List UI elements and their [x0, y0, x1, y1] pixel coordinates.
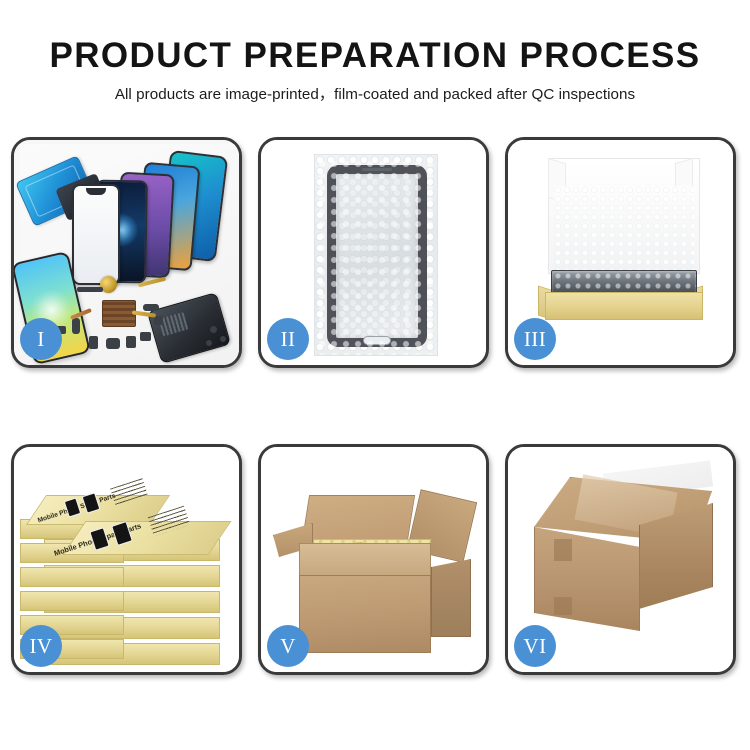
wrapped-screen	[327, 165, 427, 347]
header: PRODUCT PREPARATION PROCESS All products…	[0, 34, 750, 105]
step-badge-4: IV	[20, 625, 62, 667]
phone-screen-white	[72, 184, 120, 285]
carton-front-panel	[299, 575, 431, 653]
step-card-3[interactable]: III	[505, 137, 736, 368]
screw-part-1	[210, 326, 217, 333]
step-card-5[interactable]: V	[258, 444, 489, 675]
step-badge-3: III	[514, 318, 556, 360]
kraft-box-base	[545, 292, 703, 320]
connector-part-6	[140, 332, 151, 341]
step-badge-2: II	[267, 318, 309, 360]
earpiece-slot-icon	[362, 168, 392, 171]
stack-box-l4	[20, 591, 124, 611]
stack-box-l3	[20, 567, 124, 587]
step-card-2[interactable]: II	[258, 137, 489, 368]
step-card-4[interactable]: Mobile Phone Spare Parts Mobile Phone Sp…	[11, 444, 242, 675]
connector-part-7	[72, 318, 80, 334]
page-title: PRODUCT PREPARATION PROCESS	[0, 34, 750, 78]
connector-part-2	[143, 304, 159, 311]
sealed-carton-side	[639, 503, 713, 631]
screw-part-3	[206, 340, 212, 346]
connector-part-5	[126, 336, 136, 348]
step-badge-1: I	[20, 318, 62, 360]
wrapped-screen-in-box	[551, 270, 697, 294]
carton-inner-wall	[299, 543, 431, 577]
carton-side-panel	[431, 559, 471, 637]
connector-part-4	[106, 338, 120, 349]
home-button-icon	[363, 336, 391, 345]
bubble-wrap-sheet	[314, 154, 438, 356]
process-steps-grid: I II	[11, 137, 739, 675]
sealed-carton-front	[534, 525, 640, 631]
product-preparation-infographic: PRODUCT PREPARATION PROCESS All products…	[0, 0, 750, 750]
step-card-6[interactable]: VI	[505, 444, 736, 675]
screw-part-2	[220, 336, 226, 342]
foam-padding	[554, 186, 694, 272]
carton-tape-patch-top	[554, 539, 572, 561]
connector-part-1	[77, 287, 103, 292]
connector-part-3	[89, 336, 98, 349]
page-subtitle: All products are image-printed，film-coat…	[0, 84, 750, 105]
chip-array-part	[102, 300, 136, 327]
carton-tape-patch-bottom	[554, 597, 572, 615]
step-badge-5: V	[267, 625, 309, 667]
step-card-1[interactable]: I	[11, 137, 242, 368]
step-badge-6: VI	[514, 625, 556, 667]
connector-part-8	[154, 316, 163, 325]
